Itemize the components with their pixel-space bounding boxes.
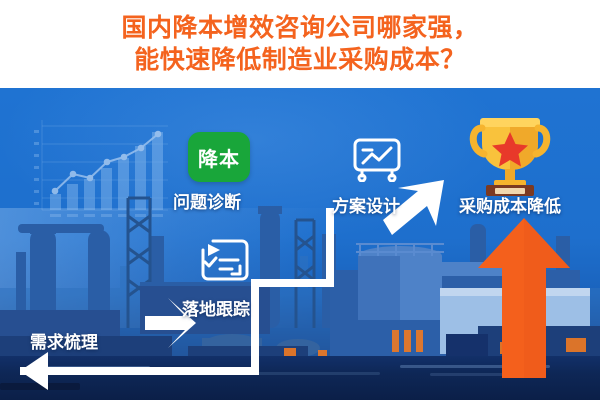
illustration-panel: 降本 问题诊断 方案设计 落地跟踪 需求梳理 采购成本降低	[0, 88, 600, 400]
presentation-chart-icon	[352, 138, 402, 182]
step-label-problem-diagnosis: 问题诊断	[173, 188, 241, 213]
step-label-requirement-sorting: 需求梳理	[30, 328, 98, 353]
headline-line-2: 能快速降低制造业采购成本？	[134, 45, 466, 75]
step-label-implementation-tracking: 落地跟踪	[182, 295, 250, 320]
badge-label: 降本	[198, 143, 240, 172]
headline-line-1: 国内降本增效咨询公司哪家强，	[121, 13, 478, 43]
trophy-icon	[468, 110, 552, 198]
step-label-cost-reduction: 采购成本降低	[459, 192, 561, 217]
orange-growth-arrow-icon	[478, 218, 570, 378]
play-triangle-icon	[208, 244, 220, 256]
checklist-document-icon	[200, 238, 250, 284]
infographic-banner: 国内降本增效咨询公司哪家强， 能快速降低制造业采购成本？	[0, 0, 600, 400]
headline-block: 国内降本增效咨询公司哪家强， 能快速降低制造业采购成本？	[0, 0, 600, 88]
green-badge-icon: 降本	[188, 132, 250, 182]
bottom-left-arrow-icon	[20, 352, 48, 390]
step-label-plan-design: 方案设计	[332, 192, 400, 217]
